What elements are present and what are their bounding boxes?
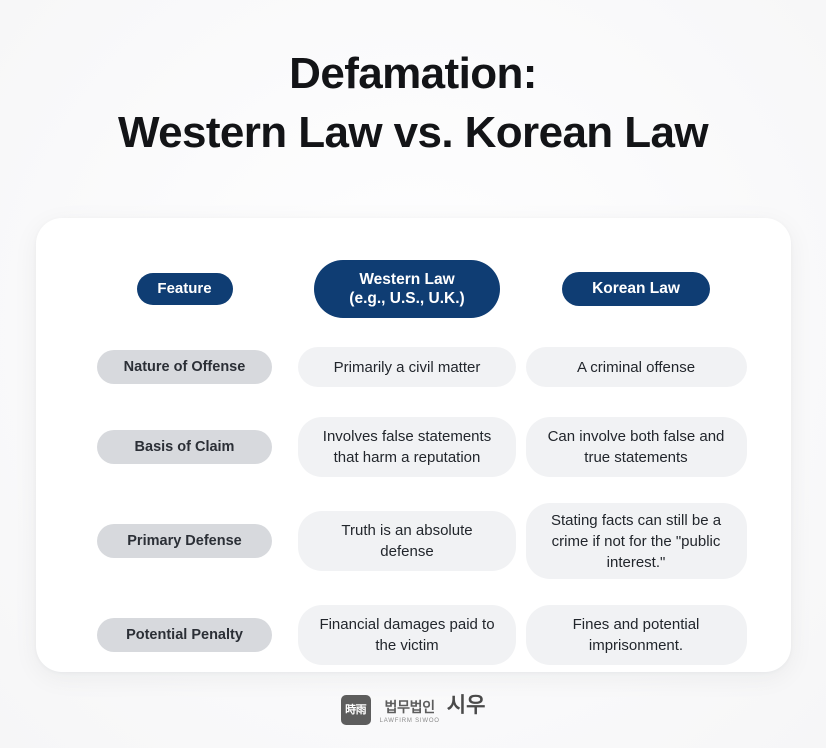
header-pill-feature: Feature: [137, 273, 233, 305]
cell-feature: Nature of Offense: [78, 350, 291, 384]
table-row: Nature of Offense Primarily a civil matt…: [78, 330, 749, 404]
cell-western: Truth is an absolute defense: [291, 511, 523, 571]
title-line-2: Western Law vs. Korean Law: [0, 102, 826, 164]
logo-firm-korean: 법무법인: [385, 701, 435, 716]
header-label-korean: Korean Law: [592, 280, 680, 298]
cell-western: Primarily a civil matter: [291, 347, 523, 387]
cell-feature: Basis of Claim: [78, 430, 291, 464]
cell-western: Financial damages paid to the victim: [291, 605, 523, 665]
header-label-western-line1: Western Law: [349, 270, 464, 289]
logo-firm-latin: LAWFIRM SIWOO: [380, 717, 440, 725]
content-pill-korean: Fines and potential imprisonment.: [526, 605, 747, 665]
header-label-feature: Feature: [157, 280, 211, 298]
page-title: Defamation: Western Law vs. Korean Law: [0, 46, 826, 164]
cell-feature: Potential Penalty: [78, 618, 291, 652]
header-pill-korean: Korean Law: [562, 272, 710, 306]
cell-feature: Primary Defense: [78, 524, 291, 558]
siwoo-logo-mark-icon: 時雨: [341, 695, 371, 725]
content-pill-korean: Can involve both false and true statemen…: [526, 417, 747, 477]
infographic-page: Defamation: Western Law vs. Korean Law F…: [0, 0, 826, 748]
content-pill-korean: A criminal offense: [526, 347, 747, 387]
cell-korean: Can involve both false and true statemen…: [523, 417, 749, 477]
header-pill-western: Western Law (e.g., U.S., U.K.): [314, 260, 500, 318]
logo-firm-name: 시우: [447, 694, 486, 716]
feature-pill: Basis of Claim: [97, 430, 272, 464]
cell-korean: Stating facts can still be a crime if no…: [523, 503, 749, 579]
content-pill-western: Primarily a civil matter: [298, 347, 516, 387]
cell-korean: A criminal offense: [523, 347, 749, 387]
cell-korean: Fines and potential imprisonment.: [523, 605, 749, 665]
feature-pill: Primary Defense: [97, 524, 272, 558]
table-row: Potential Penalty Financial damages paid…: [78, 592, 749, 678]
feature-pill: Nature of Offense: [97, 350, 272, 384]
header-cell-feature: Feature: [78, 273, 291, 305]
header-cell-western: Western Law (e.g., U.S., U.K.): [291, 260, 523, 318]
content-pill-western: Truth is an absolute defense: [298, 511, 516, 571]
content-pill-korean: Stating facts can still be a crime if no…: [526, 503, 747, 579]
footer-logo: 時雨 법무법인 LAWFIRM SIWOO 시우: [0, 694, 826, 725]
cell-western: Involves false statements that harm a re…: [291, 417, 523, 477]
title-line-1: Defamation:: [0, 46, 826, 102]
table-row: Primary Defense Truth is an absolute def…: [78, 490, 749, 592]
header-label-western-line2: (e.g., U.S., U.K.): [349, 289, 464, 308]
feature-pill: Potential Penalty: [97, 618, 272, 652]
header-cell-korean: Korean Law: [523, 272, 749, 306]
comparison-card: Feature Western Law (e.g., U.S., U.K.) K…: [36, 218, 791, 672]
content-pill-western: Involves false statements that harm a re…: [298, 417, 516, 477]
table-row: Basis of Claim Involves false statements…: [78, 404, 749, 490]
comparison-table: Feature Western Law (e.g., U.S., U.K.) K…: [78, 248, 749, 678]
logo-firm-type: 법무법인 LAWFIRM SIWOO: [380, 701, 440, 725]
table-header-row: Feature Western Law (e.g., U.S., U.K.) K…: [78, 248, 749, 330]
content-pill-western: Financial damages paid to the victim: [298, 605, 516, 665]
logo-wordmark: 법무법인 LAWFIRM SIWOO 시우: [380, 694, 486, 725]
